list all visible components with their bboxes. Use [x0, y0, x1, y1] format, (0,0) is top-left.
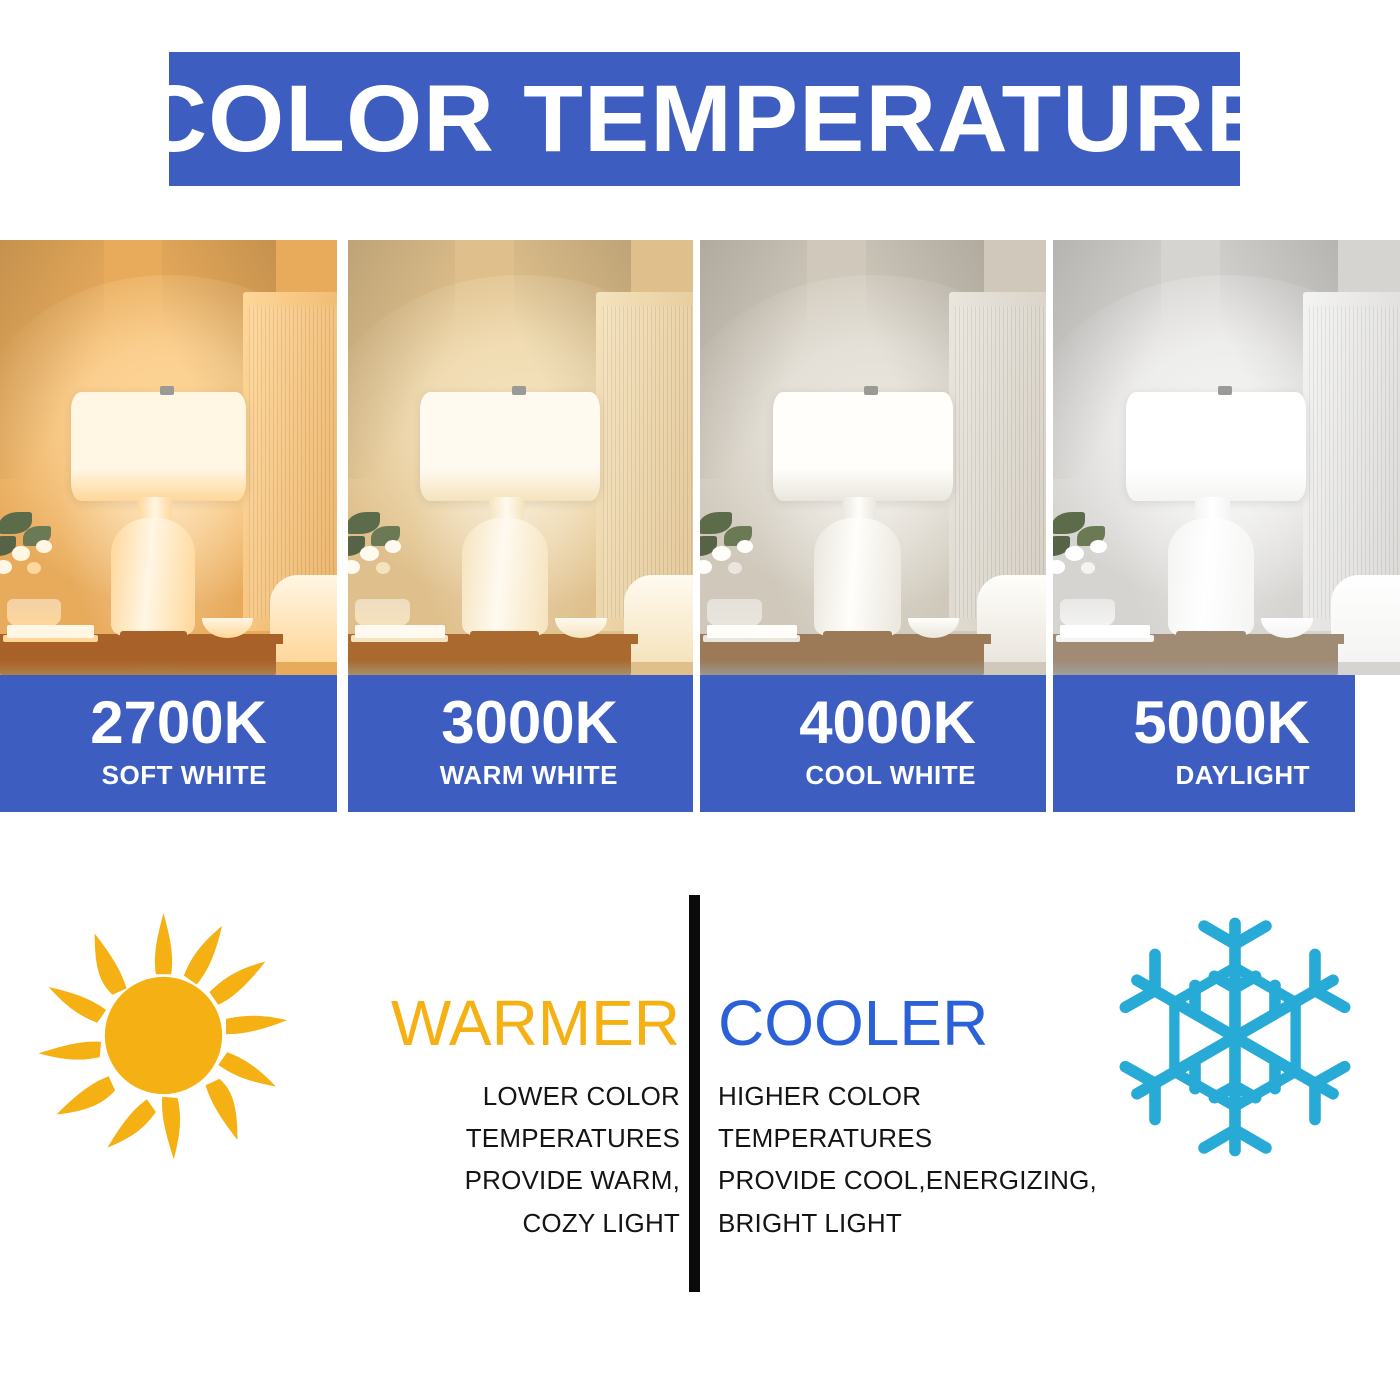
panel-2700k[interactable]: 2700K SOFT WHITE — [0, 240, 337, 812]
vertical-divider — [689, 895, 700, 1292]
cooler-line-2: PROVIDE COOL,ENERGIZING, — [718, 1159, 1108, 1201]
kelvin-name: COOL WHITE — [805, 760, 976, 791]
warmer-description: LOWER COLOR TEMPERATURES PROVIDE WARM, C… — [300, 1075, 680, 1243]
panel-label-4000k: 4000K COOL WHITE — [700, 675, 1046, 812]
kelvin-value: 4000K — [799, 692, 976, 753]
scene-photo-5000k — [1053, 240, 1400, 675]
panel-label-3000k: 3000K WARM WHITE — [348, 675, 693, 812]
cooler-heading: COOLER — [718, 990, 1108, 1057]
kelvin-name: SOFT WHITE — [102, 760, 267, 791]
scene-photo-2700k — [0, 240, 337, 675]
panel-4000k[interactable]: 4000K COOL WHITE — [700, 240, 1046, 812]
sun-icon — [36, 908, 291, 1163]
infographic-page: COLOR TEMPERATURE — [0, 0, 1400, 1400]
warmer-line-1: LOWER COLOR TEMPERATURES — [300, 1075, 680, 1159]
cooler-description: HIGHER COLOR TEMPERATURES PROVIDE COOL,E… — [718, 1075, 1108, 1243]
color-temperature-panels: 2700K SOFT WHITE — [0, 240, 1400, 812]
cooler-block: COOLER HIGHER COLOR TEMPERATURES PROVIDE… — [718, 990, 1108, 1244]
page-title: COLOR TEMPERATURE — [137, 72, 1273, 167]
warm-cool-comparison: WARMER LOWER COLOR TEMPERATURES PROVIDE … — [0, 880, 1400, 1350]
kelvin-name: WARM WHITE — [440, 760, 618, 791]
warmer-block: WARMER LOWER COLOR TEMPERATURES PROVIDE … — [300, 990, 680, 1244]
panel-label-5000k: 5000K DAYLIGHT — [1053, 675, 1355, 812]
panel-3000k[interactable]: 3000K WARM WHITE — [348, 240, 693, 812]
cooler-line-1: HIGHER COLOR TEMPERATURES — [718, 1075, 1108, 1159]
warmer-line-3: COZY LIGHT — [300, 1202, 680, 1244]
scene-photo-3000k — [348, 240, 693, 675]
snowflake-icon — [1106, 908, 1364, 1166]
title-banner: COLOR TEMPERATURE — [169, 52, 1240, 186]
cooler-line-3: BRIGHT LIGHT — [718, 1202, 1108, 1244]
kelvin-value: 2700K — [90, 692, 267, 753]
warmer-heading: WARMER — [300, 990, 680, 1057]
warmer-line-2: PROVIDE WARM, — [300, 1159, 680, 1201]
kelvin-value: 5000K — [1133, 692, 1310, 753]
panel-label-2700k: 2700K SOFT WHITE — [0, 675, 337, 812]
panel-5000k[interactable]: 5000K DAYLIGHT — [1053, 240, 1400, 812]
scene-photo-4000k — [700, 240, 1046, 675]
kelvin-name: DAYLIGHT — [1176, 760, 1311, 791]
kelvin-value: 3000K — [441, 692, 618, 753]
